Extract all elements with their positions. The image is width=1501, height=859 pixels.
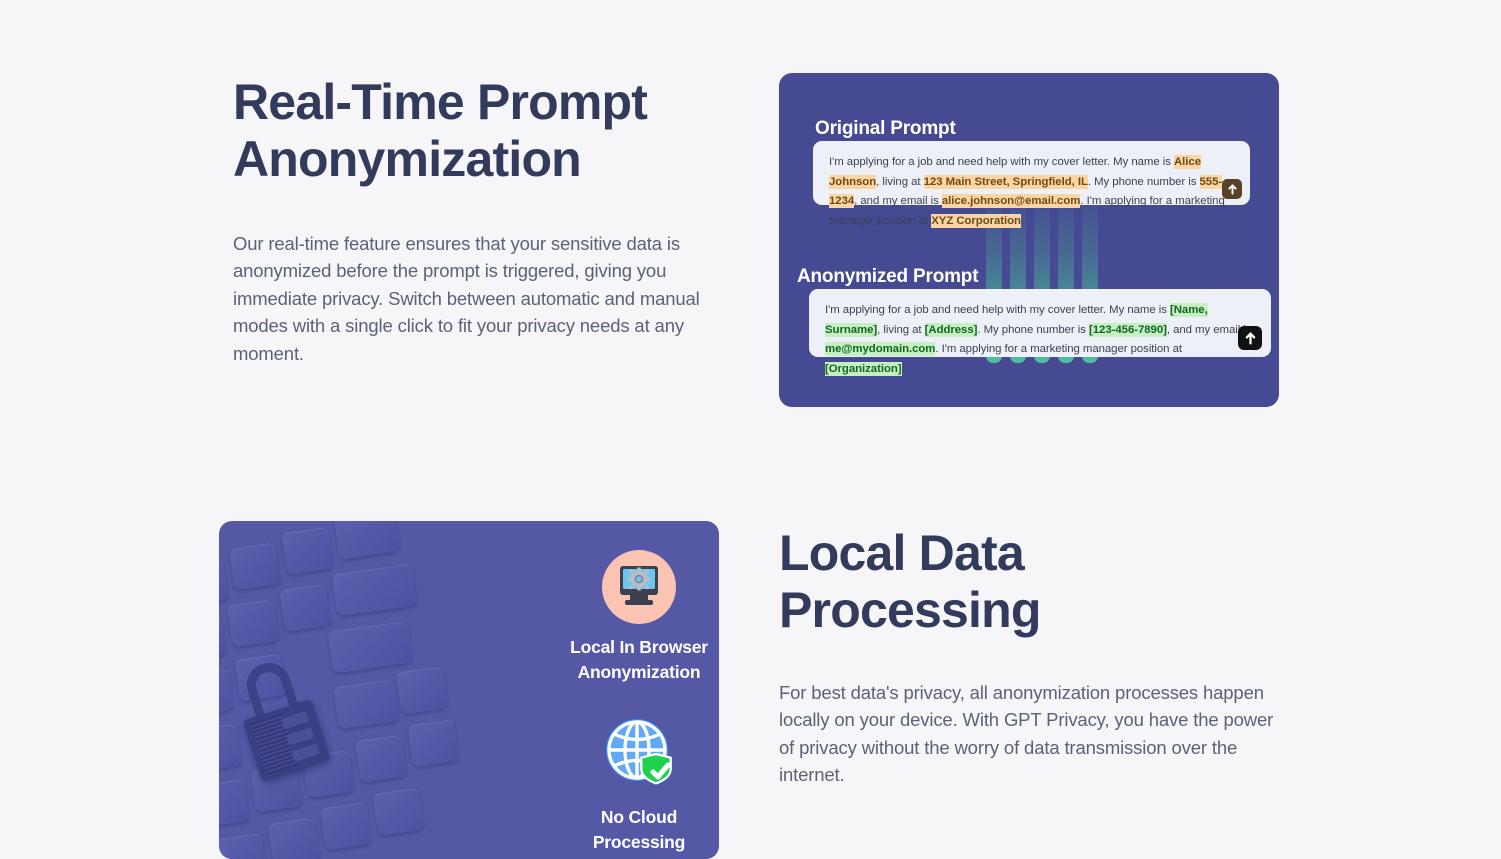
anonymized-prompt-text: I'm applying for a job and need help wit… — [825, 303, 1251, 376]
anonymized-token: [Organization] — [825, 362, 902, 376]
keyboard-photo-background — [219, 521, 545, 859]
send-button-original[interactable] — [1222, 179, 1242, 199]
globe-shield-check-icon — [599, 714, 679, 794]
section-realtime-body: Our real-time feature ensures that your … — [233, 230, 733, 367]
pii-highlight: alice.johnson@email.com — [942, 194, 1080, 208]
feature-icon-column: Local In Browser Anonymization — [559, 521, 719, 859]
original-prompt-box: I'm applying for a job and need help wit… — [813, 141, 1250, 205]
page-title-realtime: Real-Time Prompt Anonymization — [233, 74, 733, 188]
arrow-up-icon — [1227, 184, 1238, 195]
anonymized-token: [Address] — [925, 323, 978, 337]
anonymized-token: [123-456-7890] — [1089, 323, 1167, 337]
feature-caption: Local In Browser Anonymization — [559, 635, 719, 685]
local-processing-media-card: Local In Browser Anonymization — [219, 521, 719, 859]
feature-caption: No Cloud Processing — [559, 805, 719, 855]
landing-page-features: Real-Time Prompt Anonymization Our real-… — [0, 0, 1501, 859]
monitor-gear-icon — [602, 550, 676, 624]
feature-local-browser: Local In Browser Anonymization — [559, 550, 719, 685]
arrow-up-icon — [1244, 332, 1257, 345]
section-local-body: For best data's privacy, all anonymizati… — [779, 679, 1279, 789]
pii-highlight: 123 Main Street, Springfield, IL — [924, 175, 1088, 189]
anonymized-prompt-box: I'm applying for a job and need help wit… — [809, 289, 1271, 357]
section-local-text: Local Data Processing For best data's pr… — [779, 525, 1279, 789]
padlock-icon — [226, 652, 332, 780]
send-button-anonymized[interactable] — [1238, 326, 1262, 350]
anonymized-prompt-label: Anonymized Prompt — [797, 266, 978, 288]
page-title-local: Local Data Processing — [779, 525, 1279, 639]
pii-highlight: XYZ Corporation — [931, 214, 1021, 228]
original-prompt-label: Original Prompt — [815, 118, 956, 140]
prompt-anonymization-card: Original Prompt I'm applying for a job a… — [779, 73, 1279, 407]
feature-no-cloud: No Cloud Processing — [559, 714, 719, 855]
anonymized-token: me@mydomain.com — [825, 342, 935, 356]
section-realtime-text: Real-Time Prompt Anonymization Our real-… — [233, 74, 733, 367]
